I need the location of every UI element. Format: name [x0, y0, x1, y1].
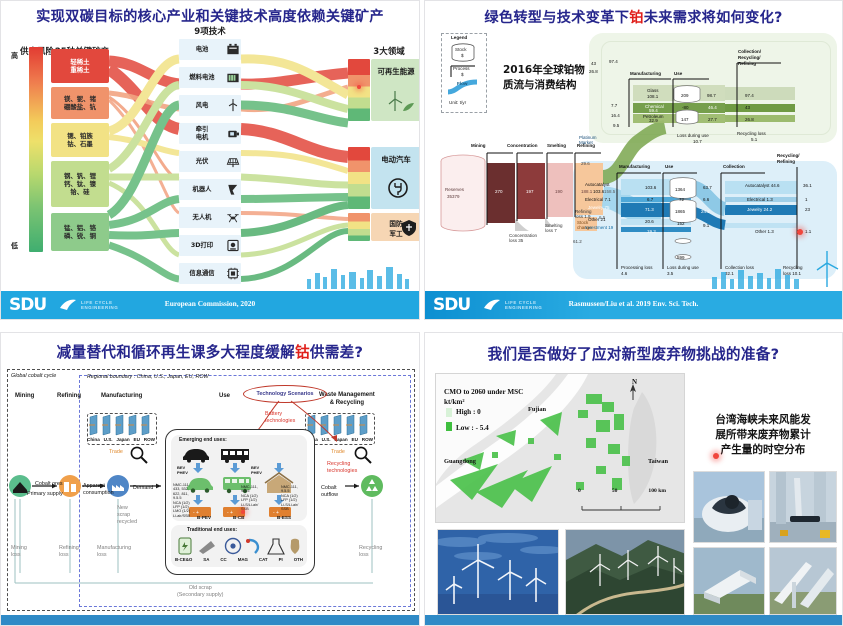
- legend-swatch-high: [446, 408, 452, 417]
- slide-critical-minerals: 实现双碳目标的核心产业和关键技术高度依赖关键矿产 供应风险 25种关键矿产 9项…: [0, 0, 420, 320]
- scale-bar-icon: [580, 500, 664, 514]
- map-legend-title: CMO to 2060 under MSC: [444, 388, 523, 396]
- blue-collect-autocatalyst: Autocatalyst 44.6: [745, 183, 780, 188]
- new-scrap-recycled-label: New scrap recycled: [117, 505, 137, 526]
- domain-stack-ev: [348, 147, 370, 209]
- apparent-consumption-label: Apparent consumption: [83, 483, 114, 497]
- nacelle-graphic: [694, 472, 765, 543]
- blue-recycle-other: 1.1: [805, 229, 811, 234]
- traditional-uses-title: Traditional end uses:: [187, 527, 237, 533]
- place-fujian: Fujian: [528, 406, 546, 413]
- green-header-use: Use: [674, 71, 682, 76]
- green-petroleum-value: 32.9: [649, 118, 658, 123]
- blue-recycle-electrical: 1: [805, 197, 808, 202]
- wind-turbine-graphic: [814, 249, 840, 289]
- blue-jewelry-stock: 1865: [675, 209, 685, 214]
- north-arrow-icon: [628, 384, 638, 400]
- blue-other-use: 9.1: [703, 223, 709, 228]
- region-labels-left: China U.S. Japan EU ROW: [87, 437, 155, 442]
- stage-use: Use: [219, 393, 230, 399]
- blue-recycle-autocatalyst: 36.1: [803, 183, 812, 188]
- legend-swatch-low: [446, 422, 452, 431]
- blue-autocatalyst-value: 103.6: [593, 189, 604, 194]
- green-side-value-3: 97.4: [609, 59, 618, 64]
- refining-loss-label: Refining loss: [59, 545, 79, 559]
- mining-loss-label: Mining loss: [11, 545, 27, 559]
- domain-stack-renewable: [348, 59, 370, 121]
- refining-flow-value: 188.1: [581, 189, 592, 194]
- traditional-use-icons: [175, 535, 303, 557]
- recycling-loss-label: Recycling loss: [359, 545, 382, 559]
- map-legend-high: High : 0: [456, 408, 481, 416]
- flow-to-blue-value: 61.2: [573, 239, 582, 244]
- blue-header-use: Use: [665, 164, 673, 169]
- green-side-value-1: 43: [591, 61, 596, 66]
- ev-plug-icon: [387, 177, 409, 199]
- blue-other-mid: 20.6: [645, 219, 654, 224]
- blue-collect-other: Other 1.3: [755, 229, 774, 234]
- blue-processing-loss: Processing loss 4.6: [621, 265, 653, 277]
- tech-wind-power: 风电: [179, 95, 241, 116]
- smelting-loss: Smelting loss 7: [545, 223, 563, 233]
- battery-chemistry-mid: NMC-111, 9.5.5 NCA (1/2) LFP (1/2) Li-S/…: [241, 485, 258, 511]
- domain-electric-vehicles: 电动汽车: [371, 147, 420, 209]
- blade-lifting-photo: [769, 471, 837, 543]
- domain-stack-defense: [348, 213, 370, 241]
- blue-autocatalyst-mid: 103.6: [645, 185, 656, 190]
- tech-battery: 电池: [179, 39, 241, 60]
- battery-tag-bpev: B-PEV: [197, 515, 211, 520]
- concentration-flow-value: 197: [526, 189, 534, 194]
- title-highlight: 钴: [295, 344, 310, 361]
- offshore-wind-farm-photo: [437, 529, 559, 615]
- green-side-value-6: 9.5: [613, 123, 619, 128]
- blue-sector-investment: Investment 19: [585, 225, 613, 230]
- manufacturing-loss-label: Manufacturing loss: [97, 545, 131, 559]
- mineral-group-5: 锰、铝、铬 磷、锐、铜: [51, 213, 109, 251]
- green-petroleum-collect: 27.7: [708, 117, 717, 122]
- magnifier-icon-left: [129, 445, 149, 465]
- laser-pointer-dot: [713, 453, 719, 459]
- blue-collect-jewelry: Jewelry 24.2: [747, 207, 772, 212]
- green-use-loss-label: Loss during use: [677, 133, 709, 138]
- blue-header-recycling: Recycling/ Refining: [777, 153, 800, 165]
- mineral-group-4: 钢、钒、锂 钙、钛、镍 铪、硅: [51, 161, 109, 207]
- green-sector-glass: Glass: [647, 88, 659, 93]
- blue-other-stock: 152: [677, 221, 685, 226]
- mineral-group-2: 镁、铌、锗 硼酸盐、钪: [51, 87, 109, 119]
- battery-technologies-label: Battery technologies: [265, 411, 295, 425]
- decommissioned-blade-graphic: [770, 548, 837, 615]
- system-label: Global cobalt cycle: [11, 373, 56, 379]
- blade-lift-graphic: [770, 472, 837, 543]
- green-chemical-use: -80: [682, 105, 689, 110]
- source-credit: Rasmussen/Liu et al. 2019 Env. Sci. Tech…: [425, 299, 842, 308]
- tech-3d-printing: 3D打印: [179, 235, 241, 256]
- blue-header-manufacturing: Manufacturing: [619, 164, 650, 169]
- footer-bar: [1, 615, 419, 625]
- slide-wind-waste: 我们是否做好了应对新型废弃物挑战的准备?: [424, 332, 843, 626]
- regional-boundary-label: Regional boundary : China, U.S., Japan, …: [87, 374, 209, 380]
- green-recycling-loss-label: Recycling loss: [737, 131, 766, 136]
- cobalt-outflow-label: Cobalt outflow: [321, 485, 338, 499]
- green-side-value-4: 7.7: [611, 103, 617, 108]
- slide-cobalt-cycle: 减量替代和循环再生课多大程度缓解钴供需差? Global cobalt cycl…: [0, 332, 420, 626]
- blue-autocatalyst-use: 63.7: [703, 185, 712, 190]
- scale-tick-labels: 0 50 100 km: [578, 488, 666, 494]
- stage-smelting: Smelting: [547, 143, 566, 148]
- map-legend-low: Low : - 5.4: [456, 424, 489, 432]
- platinum-sankey: [425, 1, 843, 301]
- blade-stack-photo: [693, 547, 765, 615]
- tech-fuel-cell: 燃料电池: [179, 67, 241, 88]
- shield-icon: [401, 219, 417, 237]
- vehicle-tag-right: BEV PHEV: [251, 466, 262, 475]
- mineral-group-1: 轻稀土 重稀土: [51, 49, 109, 83]
- blade-stack-graphic: [694, 548, 765, 615]
- laser-pointer-dot: [357, 85, 361, 89]
- robot-arm-icon: [225, 182, 241, 197]
- source-credit: European Commission, 2020: [1, 299, 419, 308]
- wind-farm-icon: [385, 87, 415, 113]
- stage-manufacturing: Manufacturing: [101, 393, 142, 399]
- green-chemical-collect: 46.4: [708, 105, 717, 110]
- place-taiwan: Taiwan: [648, 458, 668, 465]
- mountain-wind-graphic: [566, 530, 685, 615]
- tech-traction-motor: 牵引 电机: [179, 123, 241, 144]
- footer-bar: SDU LIFE CYCLEENGINEERING European Commi…: [1, 291, 419, 319]
- blue-electrical-stock: 72: [679, 197, 684, 202]
- spatial-map: CMO to 2060 under MSC kt/km² High : 0 Lo…: [435, 373, 685, 523]
- footer-bar: SDU LIFE CYCLEENGINEERING Rasmussen/Liu …: [425, 291, 842, 319]
- domain-defense: 国防 军工: [371, 213, 420, 241]
- battery-chemistry-right: NMC-111, 9.5.5 NCA (1/2) LFP (1/2) Li-S/…: [281, 485, 298, 511]
- blue-investment-stock: 599: [677, 255, 685, 260]
- slide-grid: 实现双碳目标的核心产业和关键技术高度依赖关键矿产 供应风险 25种关键矿产 9项…: [0, 0, 843, 626]
- green-glass-value: 108.1: [647, 94, 658, 99]
- green-header-collection: Collection/ Recycling/ Refining: [738, 49, 761, 67]
- reserves-label: Reserves: [445, 187, 464, 192]
- demand-label: Demand: [133, 485, 153, 491]
- place-guangdong: Guangdong: [444, 458, 476, 465]
- trade-label-left: Trade: [109, 449, 123, 455]
- slide-platinum-flow: 绿色转型与技术变革下铂未来需求将如何变化? Legend Stock $ Pro…: [424, 0, 843, 320]
- green-chemical-recycle: 43: [745, 105, 750, 110]
- primary-supply-label: Primary supply: [27, 491, 63, 497]
- traditional-use-labels: B-CE&O SA CC MAG CAT PI OTH: [175, 557, 303, 562]
- refined-output-value: 158.5: [604, 189, 615, 194]
- tech-drone: 无人机: [179, 207, 241, 228]
- tech-robot: 机器人: [179, 179, 241, 200]
- nacelle-maintenance-photo: [693, 471, 765, 543]
- decommissioned-blade-photo: [769, 547, 837, 615]
- stage-mining: Mining: [471, 143, 486, 148]
- green-petroleum-use: 147: [681, 117, 689, 122]
- blue-investment-mid: 19.3: [647, 229, 656, 234]
- drone-icon: [225, 210, 241, 225]
- blue-electrical-use: 6.6: [703, 197, 709, 202]
- map-legend-unit: kt/km²: [444, 398, 465, 406]
- green-glass-use: 209: [681, 93, 689, 98]
- battery-chemistry-left: NMC-111, 433, 532, 622, 811, 9.5.5 NCA (…: [173, 483, 190, 518]
- mountain-wind-farm-photo: [565, 529, 685, 615]
- mineral-group-3: 锶、铂族 钴、石墨: [51, 123, 109, 157]
- battery-icon: [225, 42, 241, 57]
- fuel-cell-icon: [225, 70, 241, 85]
- blue-sector-autocatalyst: Autocatalyst: [585, 182, 610, 187]
- tech-ict: 信息通信: [179, 263, 241, 284]
- blue-jewelry-mid: 71.3: [645, 207, 654, 212]
- city-skyline-graphic: [303, 263, 413, 289]
- green-header-manufacturing: Manufacturing: [630, 71, 661, 76]
- wind-turbine-icon: [225, 98, 241, 113]
- green-recycling-loss-value: 5.1: [751, 137, 757, 142]
- printer-icon: [225, 238, 241, 253]
- map-annotation: 台湾海峡未来风能发 展所带来废弃物累计 产生量的时空分布: [693, 413, 833, 458]
- blue-header-collection: Collection: [723, 164, 745, 169]
- domain-renewable-energy: 可再生能源: [371, 59, 420, 121]
- green-side-value-2: 26.8: [589, 69, 598, 74]
- blue-jewelry-use: 24.2: [701, 209, 710, 214]
- stage-mining: Mining: [15, 393, 34, 399]
- blue-recycle-jewelry: 23: [805, 207, 810, 212]
- green-glass-recycle: 97.4: [745, 93, 754, 98]
- solar-panel-icon: [225, 154, 241, 169]
- blue-sector-electrical: Electrical 7.1: [585, 197, 611, 202]
- flow-to-green-value: 29.6: [581, 161, 590, 166]
- blue-sector-other: Other 21: [588, 217, 606, 222]
- city-skyline-graphic: [706, 263, 816, 289]
- footer-bar: [425, 615, 842, 625]
- battery-tag-bcb: B-CB: [233, 515, 244, 520]
- blue-sector-jewelry: Jewelry 75: [588, 205, 610, 210]
- emerging-uses-title: Emerging end uses:: [179, 437, 227, 443]
- blue-collect-electrical: Electrical 1.3: [747, 197, 773, 202]
- chip-icon: [225, 266, 241, 281]
- stage-concentration: Concentration: [507, 143, 538, 148]
- laser-pointer-dot: [797, 229, 803, 235]
- green-side-value-5: 16.4: [611, 113, 620, 118]
- blue-electrical-mid: 6.7: [647, 197, 653, 202]
- motor-icon: [225, 126, 241, 141]
- stage-refining: Refining: [57, 393, 81, 399]
- tech-photovoltaic: 光伏: [179, 151, 241, 172]
- reserves-value: 35379: [447, 194, 460, 199]
- page-title: 我们是否做好了应对新型废弃物挑战的准备?: [425, 343, 842, 364]
- battery-tag-bess: B-ESS: [277, 515, 291, 520]
- offshore-wind-graphic: [438, 530, 559, 615]
- cobalt-ores-label: Cobalt ores: [35, 481, 63, 487]
- green-use-loss-value: 10.7: [693, 139, 702, 144]
- green-glass-collect: 98.7: [707, 93, 716, 98]
- blue-use-loss: Loss during use 3.5: [667, 265, 699, 277]
- concentration-loss: Concentration loss 35: [509, 233, 537, 243]
- vehicle-tag-left: BEV PHEV: [177, 466, 188, 475]
- green-petroleum-recycle: 26.8: [745, 117, 754, 122]
- smelting-flow-value: 190: [555, 189, 563, 194]
- mining-flow-value: 270: [495, 189, 503, 194]
- green-chemical-value: 59.4: [649, 108, 658, 113]
- old-scrap-label: Old scrap (Secondary supply): [177, 585, 223, 599]
- blue-autocatalyst-stock: 1364: [675, 187, 685, 192]
- page-title: 减量替代和循环再生课多大程度缓解钴供需差?: [1, 341, 419, 362]
- laser-pointer-dot: [241, 510, 245, 514]
- market-label: Platinum Market: [579, 135, 597, 145]
